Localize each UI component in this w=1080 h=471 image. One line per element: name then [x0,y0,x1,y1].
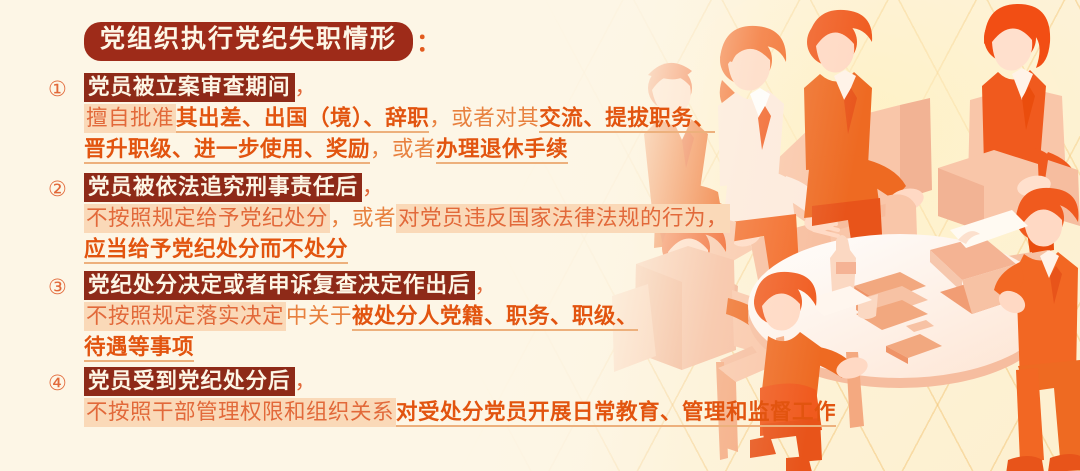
text-line: 不按照干部管理权限和组织关系对受处分党员开展日常教育、管理和监督工作 [84,397,804,428]
text-run-strong: 交流、提拔职务、 [539,106,715,133]
text-run-strong: 被处分人党籍、职务、职级、 [352,304,638,331]
list-item-body: 党员被立案审查期间，擅自批准其出差、出国（境）、辞职，或者对其交流、提拔职务、晋… [84,72,804,165]
text-line: 待遇等事项 [84,332,804,363]
text-run-hl-peach: 不按照规定落实决定 [84,302,286,331]
text-run-hl-dark: 党员被依法追究刑事责任后 [84,173,362,202]
list-item-body: 党员被依法追究刑事责任后，不按照规定给予党纪处分，或者对党员违反国家法律法规的行… [84,172,804,265]
list-item-body: 党员受到党纪处分后，不按照干部管理权限和组织关系对受处分党员开展日常教育、管理和… [84,366,804,428]
list-item-number: ③ [48,270,84,301]
infographic-poster: 党组织执行党纪失职情形 ： ① 党员被立案审查期间，擅自批准其出差、出国（境）、… [0,0,1080,471]
text-run-hl-dark: 党员受到党纪处分后 [84,367,295,396]
list-item: ③ 党纪处分决定或者申诉复查决定作出后，不按照规定落实决定中关于被处分人党籍、职… [48,270,804,363]
text-line: 党员被依法追究刑事责任后， [84,172,804,203]
title-colon: ： [416,23,441,59]
text-run-strong: 其出差、出国（境）、辞职 [176,106,429,133]
list-item: ② 党员被依法追究刑事责任后，不按照规定给予党纪处分，或者对党员违反国家法律法规… [48,172,804,265]
title-pill: 党组织执行党纪失职情形 [84,22,413,61]
text-line: 擅自批准其出差、出国（境）、辞职，或者对其交流、提拔职务、 [84,103,804,134]
list-item: ④ 党员受到党纪处分后，不按照干部管理权限和组织关系对受处分党员开展日常教育、管… [48,366,804,428]
text-run-comma: ， [475,273,497,297]
list-item-number: ① [48,72,84,103]
text-run-hl-peach: 不按照干部管理权限和组织关系 [84,398,396,427]
text-line: 不按照规定落实决定中关于被处分人党籍、职务、职级、 [84,301,804,332]
text-run-strong: 晋升职级、进一步使用、奖励 [84,137,370,164]
text-run-comma: ， [295,75,317,99]
text-run-hl-peach: 擅自批准 [84,104,176,133]
list-item-number: ④ [48,366,84,397]
list-item-body: 党纪处分决定或者申诉复查决定作出后，不按照规定落实决定中关于被处分人党籍、职务、… [84,270,804,363]
text-run-plain: ，或者 [370,137,436,161]
text-line: 党员受到党纪处分后， [84,366,804,397]
text-run-hl-peach: 不按照规定给予党纪处分 [84,204,330,233]
list-item-number: ② [48,172,84,203]
text-run-hl-peach: 对党员违反国家法律法规的行为， [396,204,730,233]
text-content: 党组织执行党纪失职情形 ： ① 党员被立案审查期间，擅自批准其出差、出国（境）、… [0,0,800,471]
text-run-comma: ， [295,369,317,393]
text-run-strong: 待遇等事项 [84,335,194,362]
text-line: 应当给予党纪处分而不处分 [84,234,804,265]
text-run-strong: 应当给予党纪处分而不处分 [84,237,348,264]
text-line: 不按照规定给予党纪处分，或者对党员违反国家法律法规的行为， [84,203,804,234]
text-run-plain: ，或者对其 [429,106,539,130]
list-item: ① 党员被立案审查期间，擅自批准其出差、出国（境）、辞职，或者对其交流、提拔职务… [48,72,804,165]
text-run-comma: ， [362,175,384,199]
text-run-strong: 对受处分党员开展日常教育、管理和监督工作 [396,400,836,427]
text-run-hl-dark: 党纪处分决定或者申诉复查决定作出后 [84,271,475,300]
text-line: 晋升职级、进一步使用、奖励，或者办理退休手续 [84,134,804,165]
text-line: 党员被立案审查期间， [84,72,804,103]
text-run-plain: 中关于 [286,304,352,328]
page-title: 党组织执行党纪失职情形 ： [84,22,441,61]
text-run-plain: ，或者 [330,206,396,230]
text-run-hl-dark: 党员被立案审查期间 [84,73,295,102]
text-run-strong: 办理退休手续 [436,137,568,164]
text-line: 党纪处分决定或者申诉复查决定作出后， [84,270,804,301]
